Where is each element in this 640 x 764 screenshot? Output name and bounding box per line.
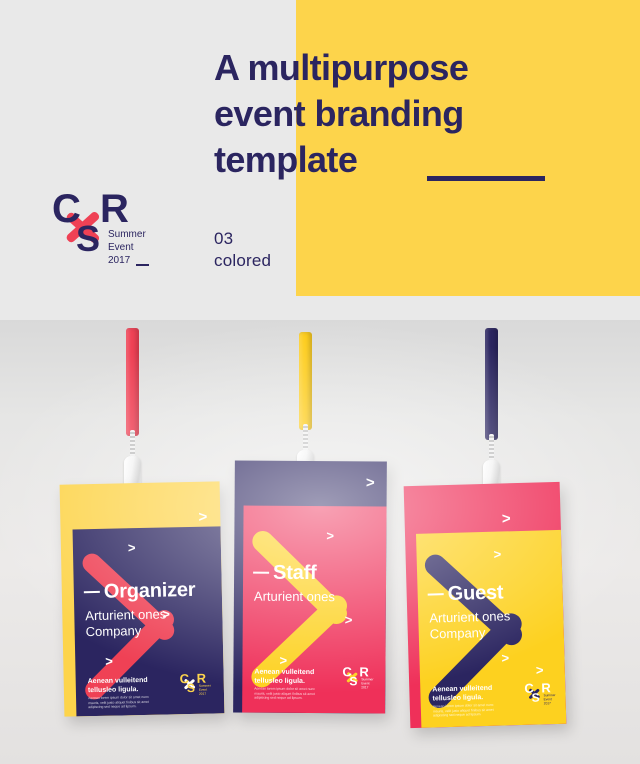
csr-logo-mini: C R S Summer Event 2017 (342, 666, 376, 692)
hero-subtitle: 03 colored (214, 228, 271, 272)
badge-card-inner: > > > Organizer Arturient ones Company A… (73, 526, 225, 716)
chevron-right-icon: > (105, 655, 113, 668)
chevron-right-icon: > (366, 475, 375, 490)
role-text: Staff (273, 562, 317, 584)
badge-micro-text: Aenean lorem ipsum dolor sit amet nunc m… (254, 687, 315, 701)
chevron-right-icon: > (501, 651, 509, 664)
badge-footer-text: Aenean vulleitend tellusleo ligula. (88, 676, 148, 695)
badge-footer-text: Aenean vulleitend tellusleo ligula. (254, 668, 314, 686)
badge-card-inner: > > > Staff Arturient ones Aenean vullei… (242, 506, 386, 714)
chevron-right-icon: > (536, 663, 544, 676)
chevron-right-icon: > (326, 529, 334, 542)
chevron-right-icon: > (502, 511, 511, 526)
poster-canvas: A multipurpose event branding template 0… (0, 0, 640, 764)
badge-micro-text: Aenean lorem ipsum dolor sit amet nunc m… (88, 695, 149, 710)
chevron-right-icon: > (128, 541, 136, 554)
badge-card[interactable]: > > > > Staff Arturient ones Aenean vull… (233, 460, 387, 713)
badge-organization: Arturient ones Company (429, 608, 511, 642)
logo-meta: Summer Event 2017 (543, 693, 555, 706)
role-dash (253, 572, 269, 574)
csr-logo-mini: C R S Summer Event 2017 (180, 673, 215, 700)
role-text: Organizer (104, 579, 196, 603)
chevron-right-icon: > (198, 510, 207, 525)
role-dash (428, 593, 444, 595)
logo-letter-s: S (531, 691, 539, 705)
badge-organization: Arturient ones (254, 589, 335, 606)
badge-micro-text: Aenean lorem ipsum dolor sit amet nunc m… (433, 703, 494, 718)
badge-footer-text: Aenean vulleitend tellusleo ligula. (432, 684, 492, 704)
csr-logo-mini: C R S Summer Event 2017 (524, 682, 559, 709)
lanyard-strap (299, 332, 312, 430)
badge-photo-section: > > > > Organizer Arturient ones Company… (0, 320, 640, 764)
badge-role-label: Guest (427, 581, 503, 606)
lanyard-strap (485, 328, 498, 440)
logo-meta: Summer Event 2017 (108, 228, 146, 267)
badge-card[interactable]: > > > > > Guest Arturient ones Company A… (404, 482, 567, 728)
badge-role-label: Staff (253, 562, 317, 585)
badge-card-inner: > > > Guest Arturient ones Company Aenea… (416, 530, 566, 728)
logo-dash (136, 264, 149, 266)
lanyard-strap (126, 328, 139, 436)
logo-letter-s: S (76, 218, 100, 260)
chevron-right-icon: > (345, 613, 353, 626)
csr-logo: C R S Summer Event 2017 (52, 192, 160, 278)
logo-letter-s: S (349, 674, 357, 688)
logo-letter-s: S (187, 681, 195, 695)
headline-underline-rule (427, 176, 545, 181)
hero-section: A multipurpose event branding template 0… (0, 0, 640, 320)
role-dash (84, 591, 100, 593)
logo-meta: Summer Event 2017 (199, 684, 211, 697)
badge-role-label: Organizer (84, 579, 196, 604)
logo-meta: Summer Event 2017 (361, 677, 373, 690)
page-title: A multipurpose event branding template (214, 45, 614, 183)
badge-organization: Arturient ones Company (85, 606, 167, 640)
chevron-right-icon: > (279, 654, 287, 667)
badge-card[interactable]: > > > > Organizer Arturient ones Company… (60, 481, 225, 716)
role-text: Guest (447, 581, 503, 605)
chevron-right-icon: > (493, 548, 501, 561)
